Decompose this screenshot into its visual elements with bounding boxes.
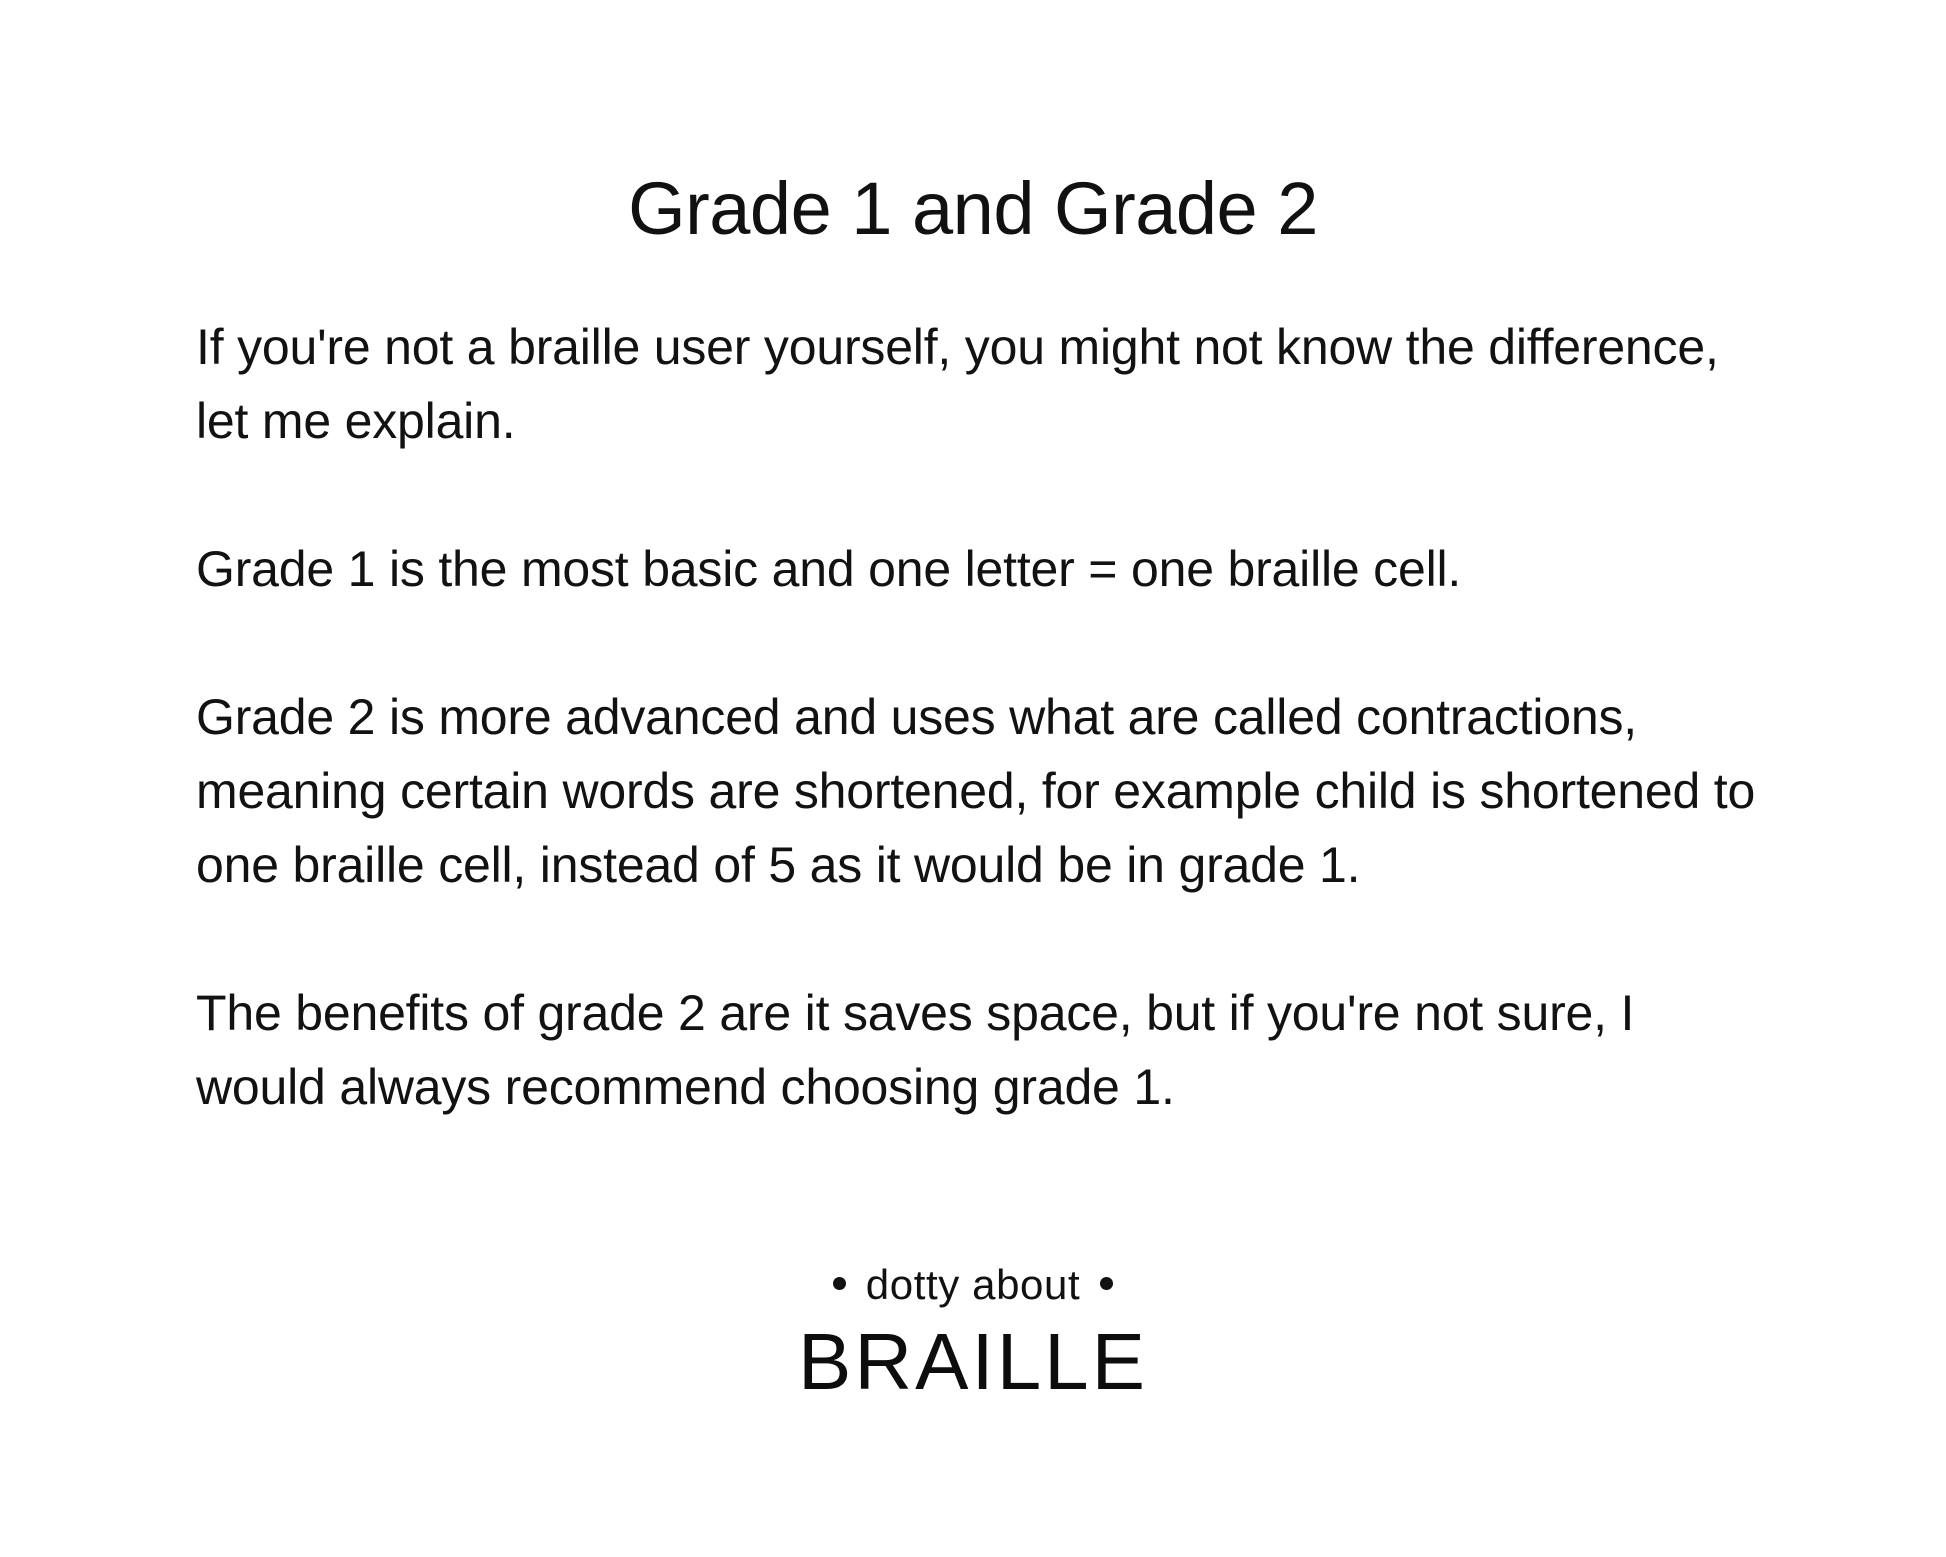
paragraph-grade-1: Grade 1 is the most basic and one letter… bbox=[196, 532, 1776, 606]
bullet-dot-icon bbox=[833, 1277, 846, 1290]
logo-tagline-text: dotty about bbox=[866, 1261, 1080, 1308]
page-title: Grade 1 and Grade 2 bbox=[0, 168, 1946, 251]
slide-canvas: Grade 1 and Grade 2 If you're not a brai… bbox=[0, 0, 1946, 1557]
brand-logo: dotty about BRAILLE bbox=[0, 1262, 1946, 1404]
logo-tagline: dotty about bbox=[0, 1262, 1946, 1308]
paragraph-benefits: The benefits of grade 2 are it saves spa… bbox=[196, 976, 1776, 1124]
paragraph-grade-2: Grade 2 is more advanced and uses what a… bbox=[196, 680, 1776, 902]
bullet-dot-icon bbox=[1100, 1277, 1113, 1290]
paragraph-spacer bbox=[196, 606, 1776, 680]
body-copy: If you're not a braille user yourself, y… bbox=[196, 310, 1776, 1124]
paragraph-intro: If you're not a braille user yourself, y… bbox=[196, 310, 1776, 458]
paragraph-spacer bbox=[196, 902, 1776, 976]
logo-wordmark: BRAILLE bbox=[0, 1320, 1946, 1404]
paragraph-spacer bbox=[196, 458, 1776, 532]
